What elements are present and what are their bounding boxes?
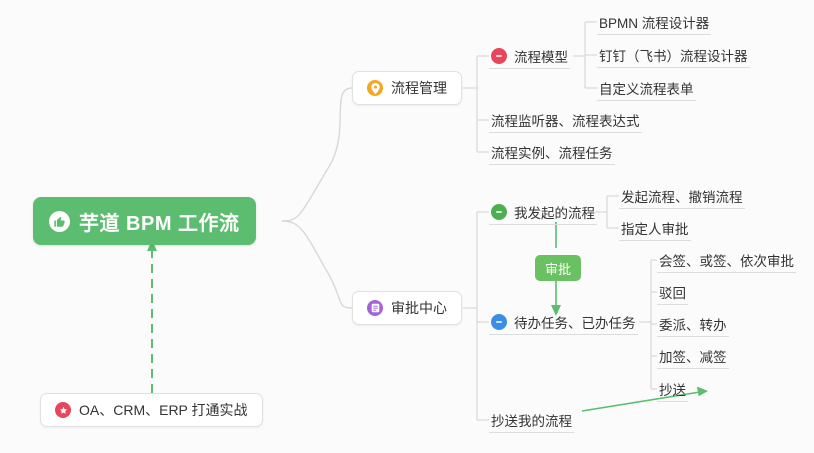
node-label: BPMN 流程设计器	[599, 12, 709, 32]
node-label: 自定义流程表单	[599, 78, 694, 98]
annotation-approval-pill[interactable]: 审批	[535, 255, 581, 281]
node-delegate-transfer[interactable]: 委派、转办	[657, 311, 729, 337]
minus-circle-icon	[491, 48, 507, 64]
node-label: 加签、减签	[659, 346, 727, 366]
node-add-remove-sign[interactable]: 加签、减签	[657, 343, 729, 369]
location-pin-icon	[367, 80, 383, 96]
node-reject[interactable]: 驳回	[657, 279, 688, 305]
node-label: 审批中心	[391, 298, 447, 318]
node-label: 抄送	[659, 379, 686, 399]
node-assignee-approval[interactable]: 指定人审批	[619, 215, 691, 241]
node-listener-expression[interactable]: 流程监听器、流程表达式	[489, 107, 642, 133]
star-icon	[55, 402, 71, 418]
node-label: 流程管理	[391, 78, 447, 98]
node-label: 流程监听器、流程表达式	[491, 110, 640, 130]
node-process-management[interactable]: 流程管理	[352, 71, 462, 105]
node-my-initiated[interactable]: 我发起的流程	[489, 199, 597, 225]
thumbs-up-icon	[49, 211, 70, 232]
node-label: 抄送我的流程	[491, 410, 572, 430]
node-label: 我发起的流程	[514, 202, 595, 222]
node-label: 指定人审批	[621, 218, 689, 238]
node-label: 待办任务、已办任务	[514, 312, 636, 332]
node-instance-task[interactable]: 流程实例、流程任务	[489, 139, 615, 165]
node-label: 驳回	[659, 282, 686, 302]
annotation-label: 审批	[545, 259, 571, 278]
node-start-cancel-process[interactable]: 发起流程、撤销流程	[619, 183, 745, 209]
node-label: 委派、转办	[659, 314, 727, 334]
node-label: 流程实例、流程任务	[491, 142, 613, 162]
node-cc[interactable]: 抄送	[657, 376, 688, 402]
root-node[interactable]: 芋道 BPM 工作流	[33, 197, 256, 245]
node-label: 会签、或签、依次审批	[659, 250, 794, 270]
root-label: 芋道 BPM 工作流	[79, 207, 240, 236]
node-label: 钉钉（飞书）流程设计器	[599, 45, 748, 65]
document-icon	[367, 300, 383, 316]
minus-circle-icon	[491, 204, 507, 220]
annotation-label: OA、CRM、ERP 打通实战	[79, 400, 248, 420]
node-label: 发起流程、撤销流程	[621, 186, 743, 206]
node-process-model[interactable]: 流程模型	[489, 43, 570, 69]
node-cc-to-me[interactable]: 抄送我的流程	[489, 407, 574, 433]
node-custom-form[interactable]: 自定义流程表单	[597, 75, 696, 101]
node-countersign[interactable]: 会签、或签、依次审批	[657, 247, 796, 273]
mindmap-canvas: 芋道 BPM 工作流 流程管理 流程模型 BPMN 流程设计器 钉钉（飞书）流程…	[0, 0, 814, 453]
node-approval-center[interactable]: 审批中心	[352, 291, 462, 325]
minus-circle-icon	[491, 314, 507, 330]
node-label: 流程模型	[514, 46, 568, 66]
annotation-integration-box[interactable]: OA、CRM、ERP 打通实战	[40, 393, 263, 427]
node-bpmn-designer[interactable]: BPMN 流程设计器	[597, 9, 711, 35]
node-dingtalk-designer[interactable]: 钉钉（飞书）流程设计器	[597, 42, 750, 68]
node-todo-done-tasks[interactable]: 待办任务、已办任务	[489, 309, 638, 335]
